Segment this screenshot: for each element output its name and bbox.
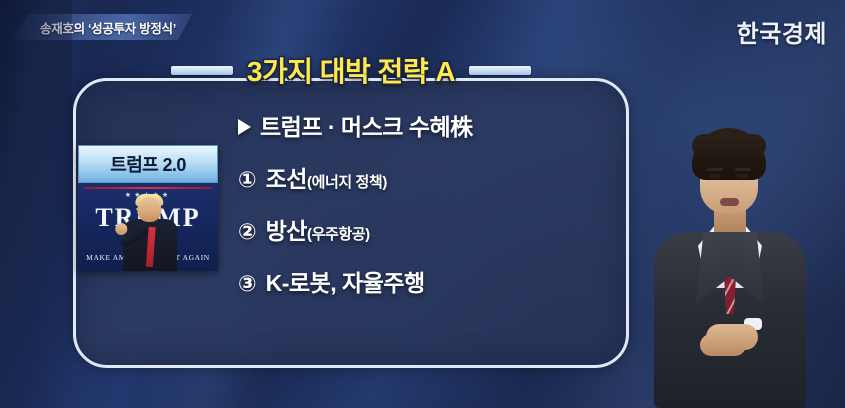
presenter-eyebrow-left	[707, 168, 723, 171]
bullet-lead-text: 트럼프 · 머스크 수혜株	[260, 108, 473, 142]
triangle-bullet-icon	[238, 119, 251, 135]
presenter-figure	[640, 128, 845, 408]
trump-poster-graphic: 트럼프 2.0 ★★★★★ TRUMP MAKE AMERICA GREAT A…	[78, 145, 218, 271]
presenter-eye-right	[737, 174, 748, 178]
list-item: ③ K-로봇, 자율주행	[238, 264, 618, 298]
list-item-sub: (우주항공)	[307, 223, 370, 244]
channel-logo: 한국경제	[737, 14, 827, 49]
slide-headline-group: 3가지 대박 전략 A	[73, 48, 629, 92]
list-item: ② 방산 (우주항공)	[238, 212, 618, 246]
presenter-mouth	[720, 198, 739, 206]
list-item-marker: ③	[238, 271, 257, 297]
list-item-marker: ②	[238, 219, 257, 245]
presenter-hand-left	[700, 334, 746, 356]
list-item-main: K-로봇, 자율주행	[266, 264, 425, 298]
broadcast-screen: 송재호의 ‘성공투자 방정식’ 한국경제 3가지 대박 전략 A 트럼프 2.0…	[0, 0, 845, 408]
poster-figure-icon	[121, 197, 179, 271]
list-item-main: 방산	[266, 212, 307, 246]
list-item-marker: ①	[238, 167, 257, 193]
headline-rule-right-icon	[469, 66, 531, 75]
list-item: ① 조선 (에너지 정책)	[238, 160, 618, 194]
program-title-text: 송재호의 ‘성공투자 방정식’	[40, 18, 176, 37]
headline-rule-left-icon	[171, 66, 233, 75]
presenter-hair-fringe	[692, 134, 766, 156]
presenter-eyebrow-right	[735, 168, 751, 171]
list-item-sub: (에너지 정책)	[307, 171, 387, 192]
presenter-eye-left	[709, 174, 720, 178]
bullet-lead: 트럼프 · 머스크 수혜株	[238, 108, 618, 142]
trump-poster-caption: 트럼프 2.0	[110, 151, 186, 177]
list-item-main: 조선	[266, 160, 307, 194]
program-title-banner: 송재호의 ‘성공투자 방정식’	[14, 14, 192, 40]
slide-headline: 3가지 대박 전략 A	[247, 50, 455, 90]
trump-poster-caption-bar: 트럼프 2.0	[78, 145, 218, 183]
slide-bullet-list: 트럼프 · 머스크 수혜株 ① 조선 (에너지 정책) ② 방산 (우주항공) …	[238, 108, 618, 298]
poster-red-stripe-icon	[84, 187, 212, 189]
trump-poster-image: ★★★★★ TRUMP MAKE AMERICA GREAT AGAIN	[78, 183, 218, 271]
